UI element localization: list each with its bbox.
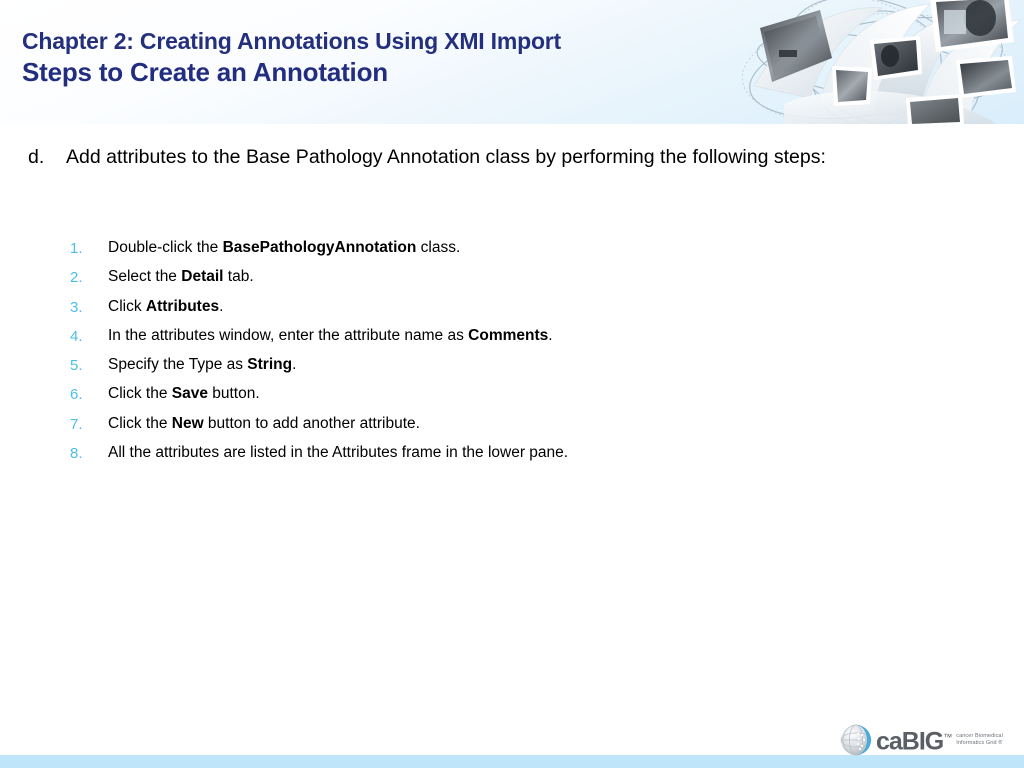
globe-network-collage-graphic — [724, 0, 1024, 124]
cabig-tagline: cancer Biomedical Informatics Grid ® — [956, 733, 1003, 748]
slide-body: d. Add attributes to the Base Pathology … — [0, 124, 1024, 755]
step-text: Click Attributes. — [108, 296, 830, 318]
step-number: 7. — [70, 413, 108, 436]
header-title-block: Chapter 2: Creating Annotations Using XM… — [22, 26, 561, 89]
trademark-symbol: ™ — [943, 732, 952, 742]
cabig-tagline-line1: cancer Biomedical — [956, 733, 1003, 741]
cabig-tagline-line2: Informatics Grid ® — [956, 740, 1003, 748]
step-item: 2.Select the Detail tab. — [70, 266, 830, 295]
step-number: 3. — [70, 296, 108, 319]
step-item: 6.Click the Save button. — [70, 383, 830, 412]
chapter-title: Chapter 2: Creating Annotations Using XM… — [22, 26, 561, 56]
step-text: In the attributes window, enter the attr… — [108, 325, 830, 347]
step-text: Specify the Type as String. — [108, 354, 830, 376]
step-text: Double-click the BasePathologyAnnotation… — [108, 237, 830, 259]
slide-subtitle: Steps to Create an Annotation — [22, 56, 561, 89]
step-item: 8.All the attributes are listed in the A… — [70, 442, 830, 471]
step-item: 4.In the attributes window, enter the at… — [70, 325, 830, 354]
step-item: 1.Double-click the BasePathologyAnnotati… — [70, 237, 830, 266]
step-item: 5.Specify the Type as String. — [70, 354, 830, 383]
step-item: 3.Click Attributes. — [70, 296, 830, 325]
step-number: 8. — [70, 442, 108, 465]
lead-marker: d. — [28, 144, 66, 171]
slide-canvas: Chapter 2: Creating Annotations Using XM… — [0, 0, 1024, 768]
step-number: 2. — [70, 266, 108, 289]
slide-header: Chapter 2: Creating Annotations Using XM… — [0, 0, 1024, 124]
lead-text: Add attributes to the Base Pathology Ann… — [66, 144, 908, 171]
step-number: 4. — [70, 325, 108, 348]
lead-list-item: d. Add attributes to the Base Pathology … — [28, 144, 908, 171]
step-text: Click the New button to add another attr… — [108, 413, 830, 435]
cabig-globe-icon — [840, 724, 873, 757]
step-number: 6. — [70, 383, 108, 406]
step-text: Select the Detail tab. — [108, 266, 830, 288]
cabig-wordmark: caBIG™ — [876, 725, 952, 754]
cabig-logo: caBIG™ cancer Biomedical Informatics Gri… — [840, 723, 1020, 757]
step-text: Click the Save button. — [108, 383, 830, 405]
step-number: 1. — [70, 237, 108, 260]
step-text: All the attributes are listed in the Att… — [108, 442, 830, 464]
steps-list: 1.Double-click the BasePathologyAnnotati… — [70, 237, 830, 471]
step-number: 5. — [70, 354, 108, 377]
step-item: 7.Click the New button to add another at… — [70, 413, 830, 442]
cabig-wordmark-text: caBIG — [876, 728, 943, 756]
